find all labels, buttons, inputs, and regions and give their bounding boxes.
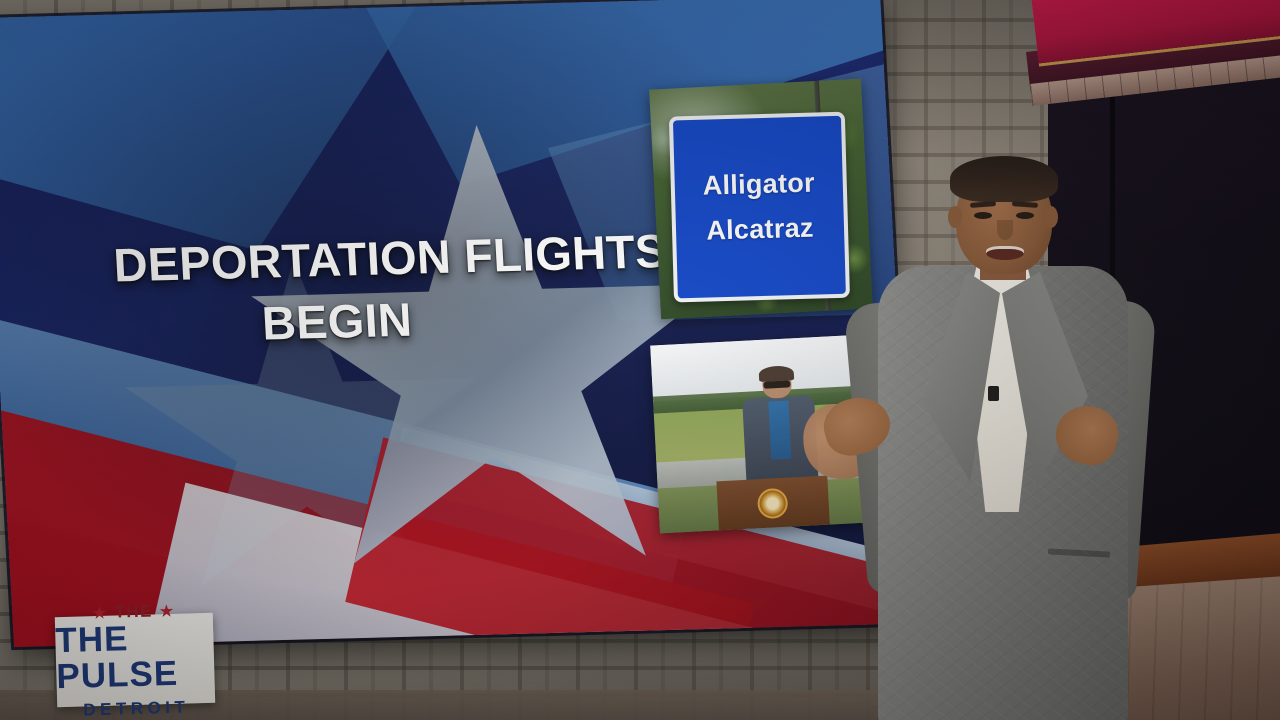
speaker-figure (745, 368, 814, 484)
program-logo-bug: ★ THE ★ THE PULSE DETROIT (55, 613, 215, 707)
anchor-hair (950, 156, 1058, 202)
star-icon: ★ (160, 604, 175, 619)
lapel-microphone-icon (988, 386, 999, 401)
road-sign: Alligator Alcatraz (669, 112, 850, 303)
podium (717, 476, 830, 531)
state-seal (757, 487, 789, 519)
logo-market-label: DETROIT (83, 698, 190, 718)
logo-program-title: THE PULSE (55, 619, 215, 695)
star-icon: ★ (93, 606, 108, 621)
road-sign-line-1: Alligator (702, 168, 815, 202)
news-anchor (860, 150, 1150, 720)
broadcast-screenshot: DEPORTATION FLIGHTS BEGIN Alligator Alca… (0, 0, 1280, 720)
road-sign-line-2: Alcatraz (706, 213, 814, 247)
inset-photo-road-sign: Alligator Alcatraz (649, 79, 873, 320)
headline-text: DEPORTATION FLIGHTS BEGIN (112, 219, 719, 359)
